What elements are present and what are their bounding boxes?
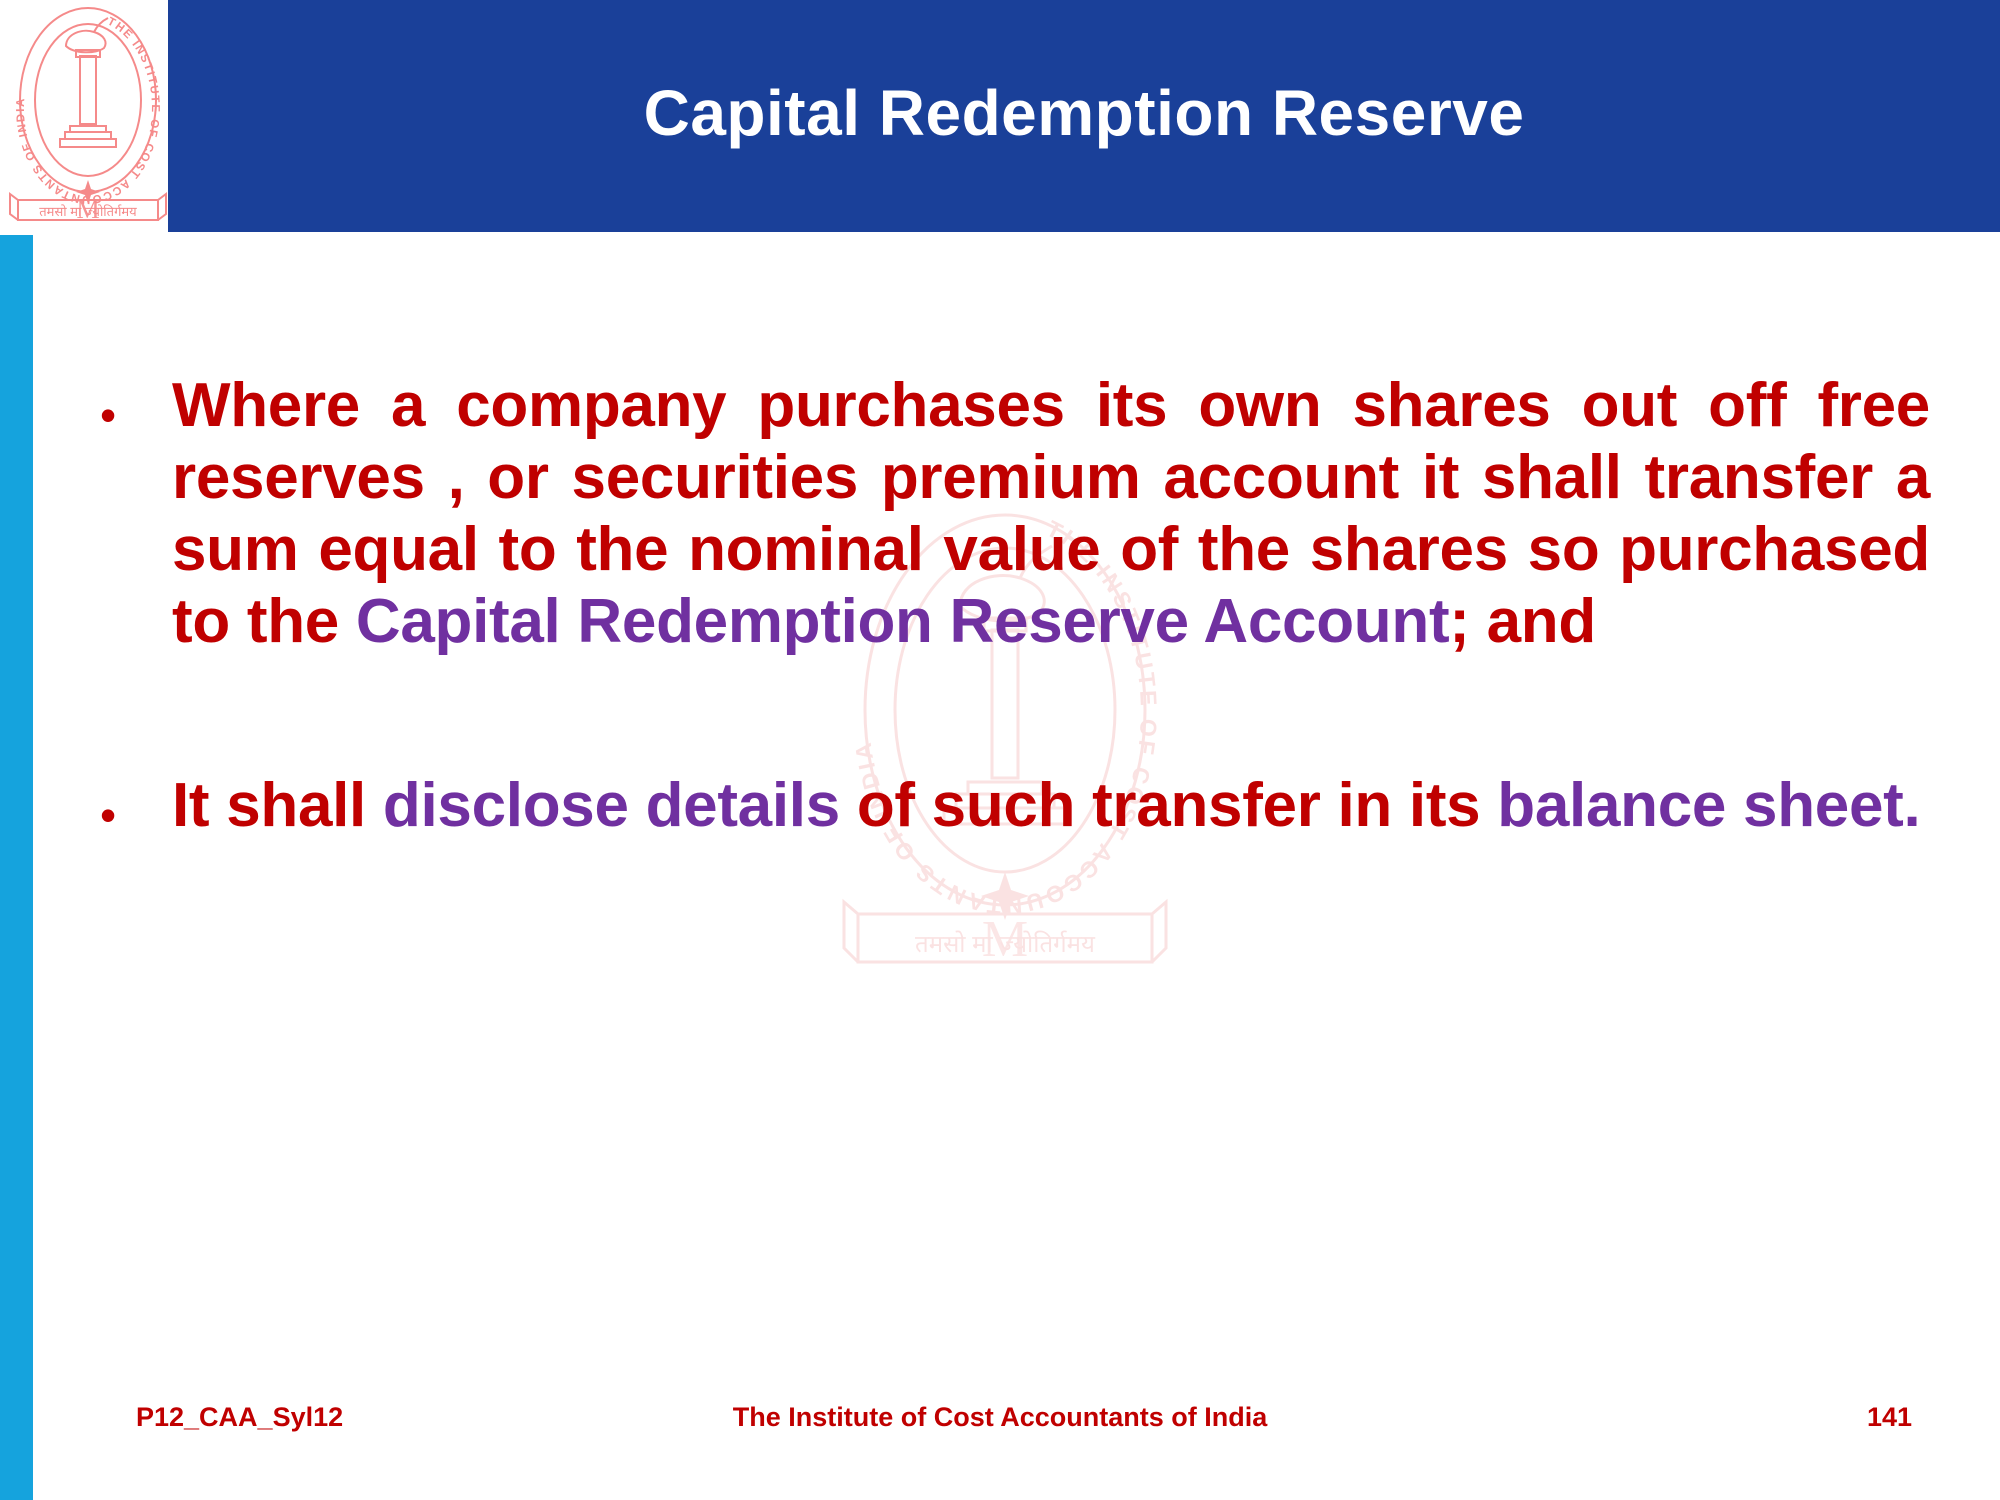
bullet-2-text: It shall disclose details of such transf… (172, 770, 1930, 842)
bullet-1-seg-1: Capital Redemption Reserve Account (356, 587, 1449, 656)
institute-logo: तमसो मा ज्योतिर्गमय M THE INSTITUTE OF C… (8, 4, 168, 232)
page-title: Capital Redemption Reserve (644, 78, 1525, 154)
slide-body: • Where a company purchases its own shar… (100, 370, 1930, 842)
svg-text:M: M (982, 911, 1028, 968)
bullet-marker: • (100, 770, 172, 838)
slide-canvas: तमसो मा ज्योतिर्गमय M THE INSTITUTE OF C… (0, 0, 2000, 1500)
bullet-1-text: Where a company purchases its own shares… (172, 370, 1930, 658)
bullet-2-seg-1: disclose details (383, 771, 857, 840)
bullet-marker: • (100, 370, 172, 438)
bullet-2-seg-0: It shall (172, 771, 383, 840)
footer-institute-name: The Institute of Cost Accountants of Ind… (0, 1402, 2000, 1433)
slide-header: Capital Redemption Reserve (168, 0, 2000, 232)
list-item: • It shall disclose details of such tran… (100, 770, 1930, 842)
bullet-2-seg-3: balance sheet. (1497, 771, 1920, 840)
slide-footer: P12_CAA_Syl12 The Institute of Cost Acco… (0, 1402, 2000, 1462)
footer-page-number: 141 (1867, 1402, 1912, 1433)
list-item: • Where a company purchases its own shar… (100, 370, 1930, 658)
svg-text:तमसो मा ज्योतिर्गमय: तमसो मा ज्योतिर्गमय (915, 930, 1096, 958)
bullet-1-seg-2: ; and (1449, 587, 1596, 656)
left-accent-bar (0, 235, 33, 1500)
bullet-2-seg-2: of such transfer in its (857, 771, 1497, 840)
